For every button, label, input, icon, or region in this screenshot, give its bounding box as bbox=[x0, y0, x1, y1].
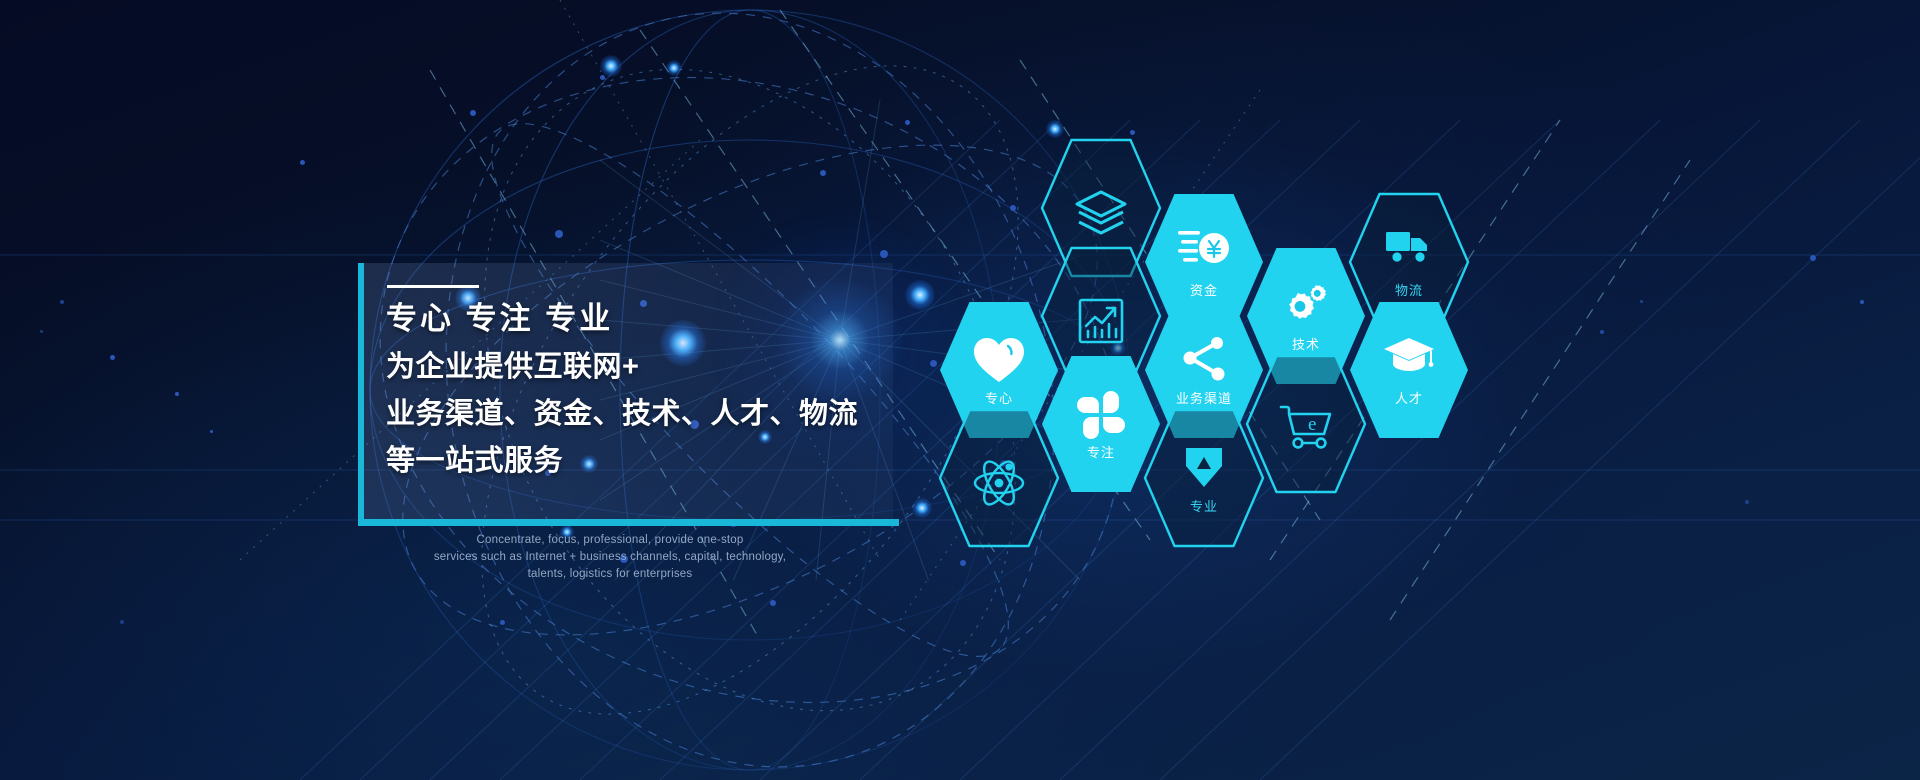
banner-stage: 专心 专注 专业 为企业提供互联网+ 业务渠道、资金、技术、人才、物流 等一站式… bbox=[0, 0, 1920, 780]
chart-growth-icon bbox=[1042, 296, 1160, 351]
svg-text:e: e bbox=[1308, 414, 1316, 435]
hexagon-label-zhuanxin: 专心 bbox=[940, 388, 1058, 407]
hexagon-label-wuliu: 物流 bbox=[1350, 280, 1468, 299]
diamond-icon bbox=[1145, 444, 1263, 495]
hexagon-atom[interactable] bbox=[940, 410, 1058, 546]
share-nodes-icon bbox=[1145, 336, 1263, 387]
gears-icon bbox=[1247, 282, 1365, 333]
yen-coin-icon bbox=[1145, 228, 1263, 275]
hexagon-label-yewuqudao: 业务渠道 bbox=[1145, 388, 1263, 407]
atom-icon bbox=[940, 458, 1058, 513]
hexagon-label-jishu: 技术 bbox=[1247, 334, 1365, 353]
layers-icon bbox=[1042, 188, 1160, 245]
graduation-cap-icon bbox=[1350, 336, 1468, 381]
hexagon-label-zhuanye: 专业 bbox=[1145, 496, 1263, 515]
heart-icon bbox=[940, 336, 1058, 389]
hexagon-label-rencai: 人才 bbox=[1350, 388, 1468, 407]
hexagon-label-zhuanzhu: 专注 bbox=[1042, 442, 1160, 461]
hexagon-label-zijin: 资金 bbox=[1145, 280, 1263, 299]
hexagon-zhuanye[interactable]: 专业 bbox=[1145, 410, 1263, 546]
hexagon-ecart[interactable]: e bbox=[1247, 356, 1365, 492]
hexagon-zhuanzhu[interactable]: 专注 bbox=[1042, 356, 1160, 492]
hexagon-cluster: 资金 技术 物流 人才 bbox=[0, 0, 1920, 780]
truck-icon bbox=[1350, 228, 1468, 269]
clover-icon bbox=[1042, 390, 1160, 445]
hexagon-rencai[interactable]: 人才 bbox=[1350, 302, 1468, 438]
ecommerce-cart-icon: e bbox=[1247, 404, 1365, 455]
